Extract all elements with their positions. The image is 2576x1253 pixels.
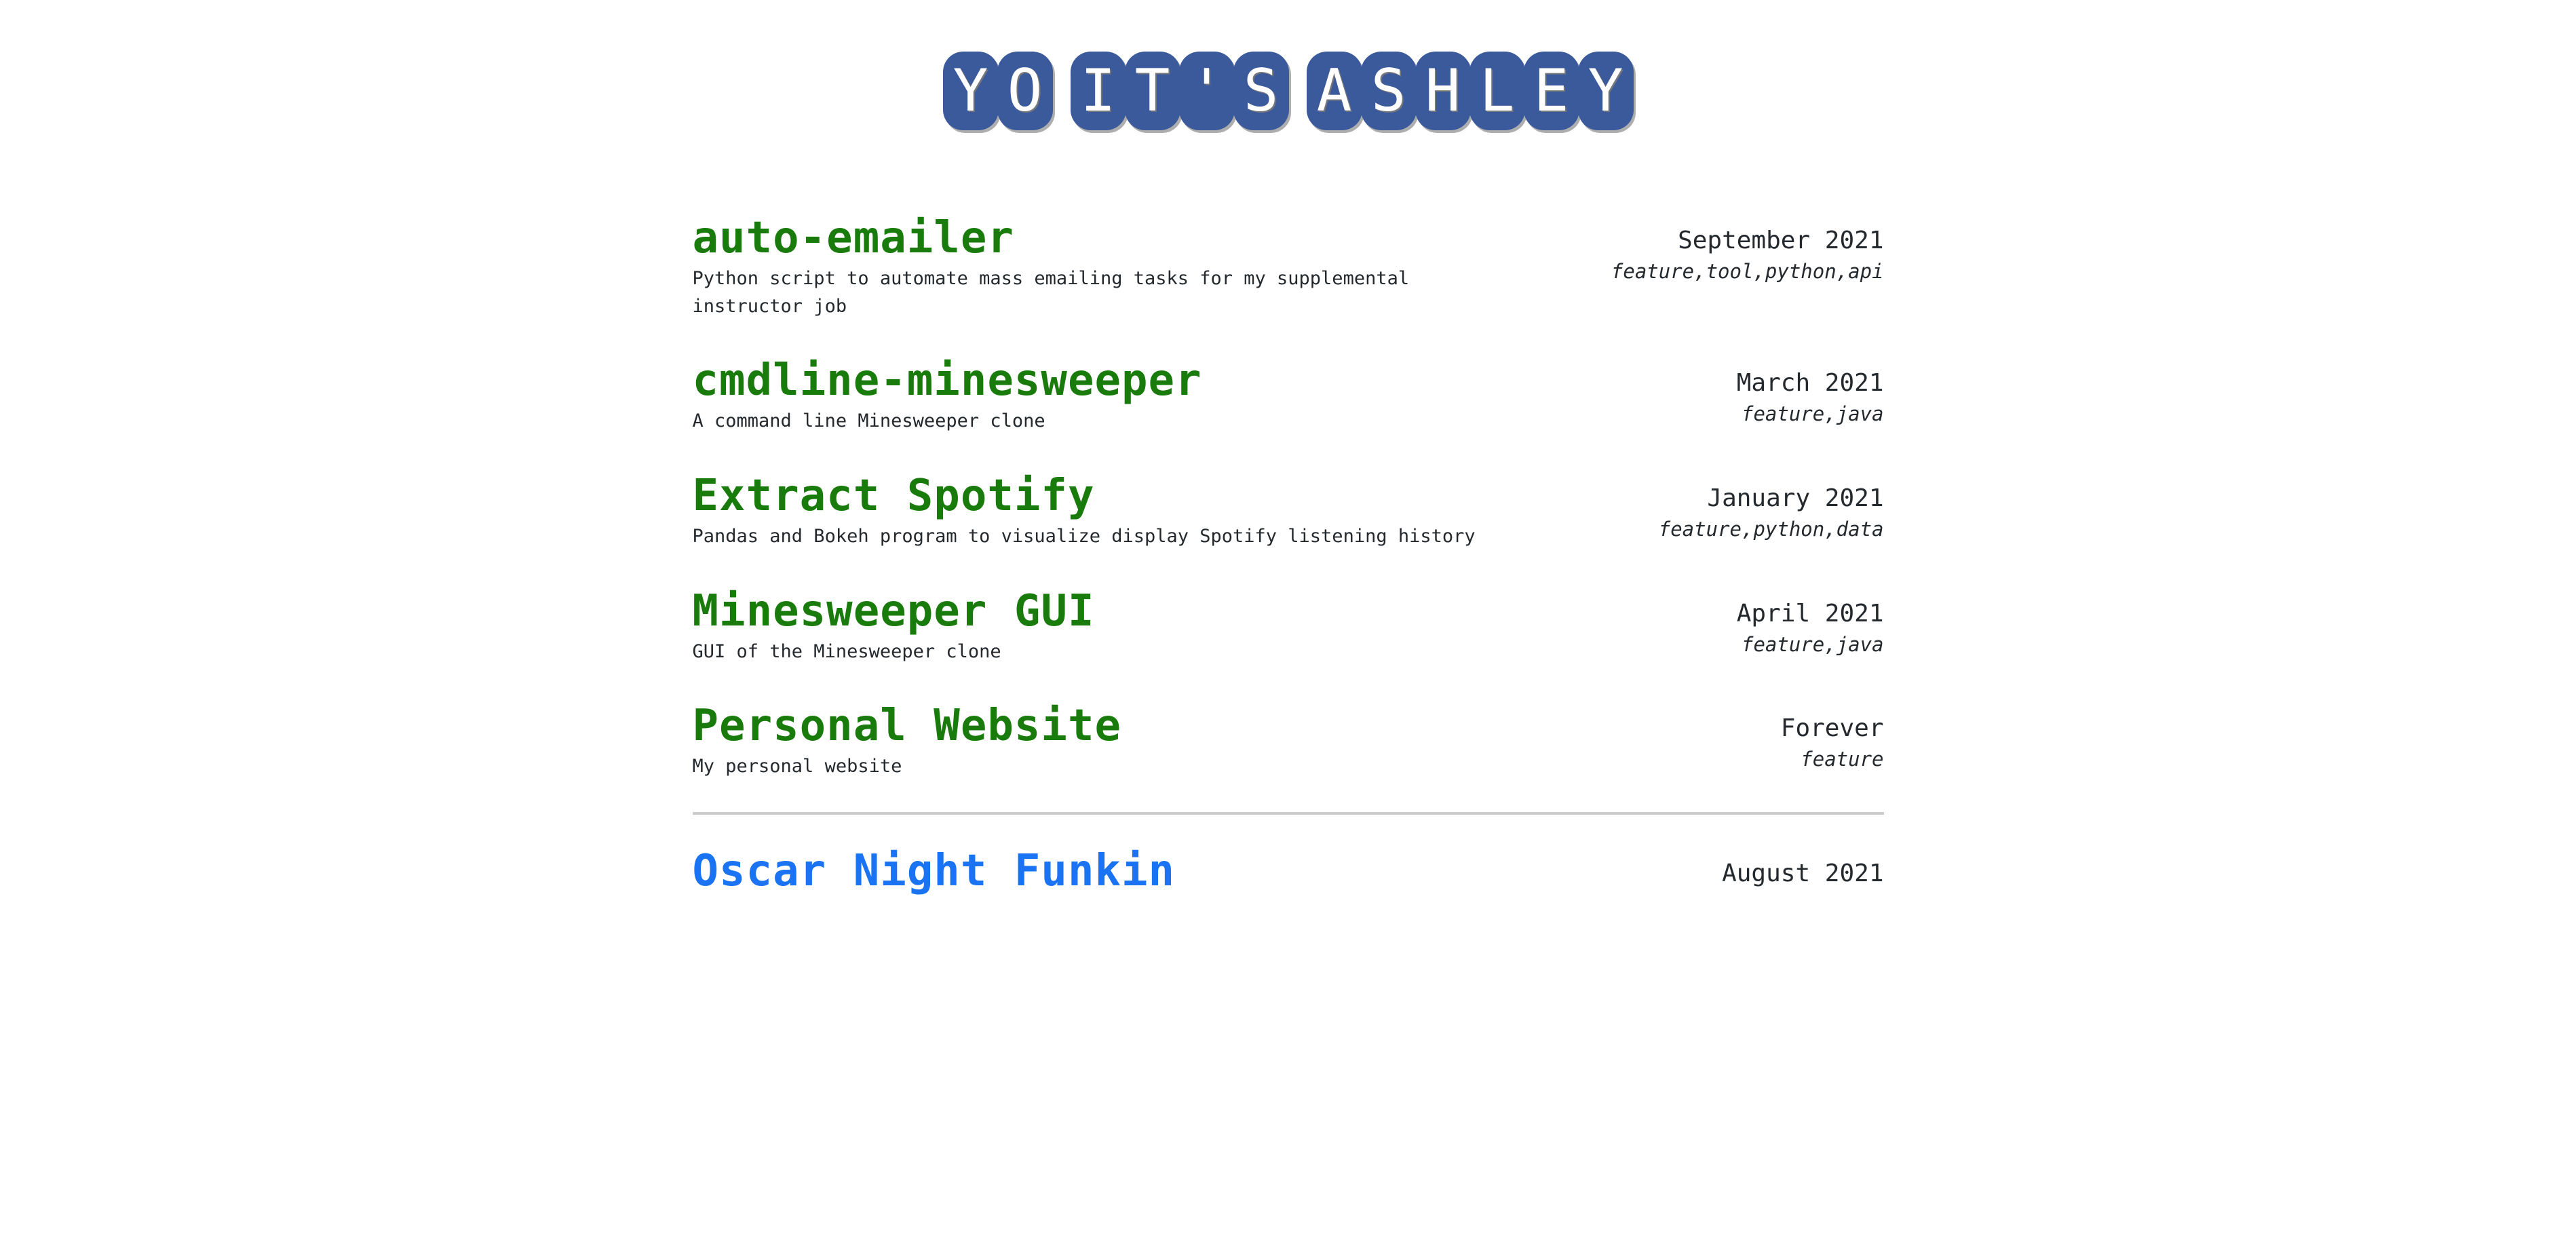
title-letter-badge: S	[1361, 52, 1417, 130]
project-title-link[interactable]: Minesweeper GUI	[693, 589, 1710, 634]
project-description: Pandas and Bokeh program to visualize di…	[693, 523, 1500, 551]
project-entry[interactable]: Oscar Night FunkinAugust 2021	[693, 849, 1884, 898]
title-letter-badge: O	[997, 52, 1053, 130]
project-title-link[interactable]: cmdline-minesweeper	[693, 358, 1710, 404]
project-main: Extract SpotifyPandas and Bokeh program …	[693, 474, 1659, 551]
project-entry[interactable]: Personal WebsiteMy personal websiteForev…	[693, 703, 1884, 781]
title-word: YO	[943, 52, 1053, 130]
project-list-below: Oscar Night FunkinAugust 2021	[693, 849, 1884, 898]
project-date: September 2021	[1611, 225, 1884, 256]
title-letter-badge: Y	[1578, 52, 1634, 130]
title-letter-badge: E	[1524, 52, 1579, 130]
title-letter-badge: L	[1469, 52, 1525, 130]
project-main: auto-emailerPython script to automate ma…	[693, 216, 1611, 320]
project-main: Personal WebsiteMy personal website	[693, 703, 1781, 781]
project-tags[interactable]: feature,tool,python,api	[1611, 258, 1884, 285]
project-description: My personal website	[693, 753, 1500, 781]
project-list: auto-emailerPython script to automate ma…	[693, 216, 1884, 898]
project-description: Python script to automate mass emailing …	[693, 265, 1500, 320]
section-divider	[693, 812, 1884, 815]
project-title-link[interactable]: Extract Spotify	[693, 474, 1632, 519]
project-tags[interactable]: feature,python,data	[1659, 516, 1884, 543]
title-letter-badge: S	[1233, 52, 1289, 130]
project-date: August 2021	[1722, 858, 1883, 889]
project-description: GUI of the Minesweeper clone	[693, 638, 1500, 666]
title-letter-badge: Y	[943, 52, 999, 130]
title-letter-badge: A	[1307, 52, 1362, 130]
project-meta: March 2021feature,java	[1737, 358, 1884, 427]
project-date: March 2021	[1737, 368, 1884, 398]
project-entry[interactable]: auto-emailerPython script to automate ma…	[693, 216, 1884, 320]
project-title-link[interactable]: auto-emailer	[693, 216, 1584, 261]
title-letter-badge: I	[1071, 52, 1126, 130]
project-tags[interactable]: feature,java	[1737, 401, 1884, 427]
project-date: January 2021	[1659, 483, 1884, 514]
project-list-above: auto-emailerPython script to automate ma…	[693, 216, 1884, 781]
project-main: Oscar Night Funkin	[693, 849, 1723, 898]
project-entry[interactable]: Minesweeper GUIGUI of the Minesweeper cl…	[693, 589, 1884, 666]
project-meta: April 2021feature,java	[1737, 589, 1884, 658]
project-description: A command line Minesweeper clone	[693, 408, 1500, 436]
title-word: ASHLEY	[1307, 52, 1634, 130]
project-main: Minesweeper GUIGUI of the Minesweeper cl…	[693, 589, 1737, 666]
site-title-badges[interactable]: YOIT'SASHLEY	[943, 52, 1634, 130]
project-entry[interactable]: cmdline-minesweeperA command line Minesw…	[693, 358, 1884, 436]
site-header: YOIT'SASHLEY	[0, 0, 2576, 130]
project-meta: September 2021feature,tool,python,api	[1611, 216, 1884, 285]
project-date: Forever	[1781, 713, 1884, 744]
project-title-link[interactable]: Oscar Night Funkin	[693, 849, 1695, 894]
page-root: YOIT'SASHLEY auto-emailerPython script t…	[0, 0, 2576, 1253]
title-word: IT'S	[1071, 52, 1289, 130]
project-entry[interactable]: Extract SpotifyPandas and Bokeh program …	[693, 474, 1884, 551]
project-main: cmdline-minesweeperA command line Minesw…	[693, 358, 1737, 436]
project-tags[interactable]: feature	[1781, 746, 1884, 773]
title-letter-badge: T	[1125, 52, 1180, 130]
title-letter-badge: H	[1415, 52, 1471, 130]
project-meta: Foreverfeature	[1781, 703, 1884, 773]
project-tags[interactable]: feature,java	[1737, 632, 1884, 658]
project-title-link[interactable]: Personal Website	[693, 703, 1754, 749]
project-meta: August 2021	[1722, 849, 1883, 889]
title-letter-badge: '	[1179, 52, 1235, 130]
project-date: April 2021	[1737, 598, 1884, 629]
project-meta: January 2021feature,python,data	[1659, 474, 1884, 543]
